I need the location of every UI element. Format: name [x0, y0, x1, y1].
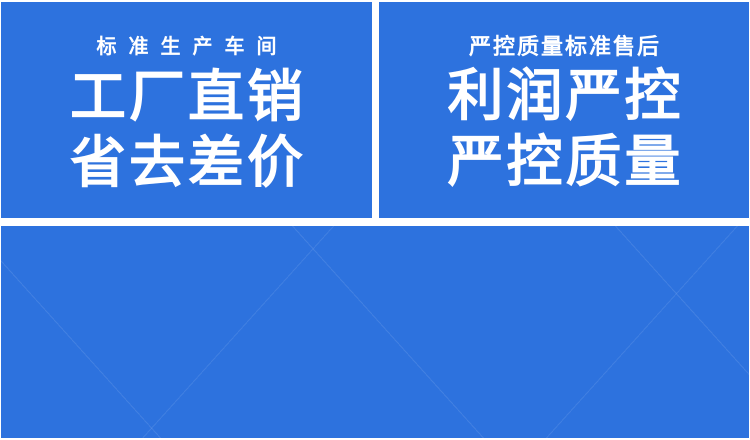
eyebrow-standard-workshop: 标准生产车间 [1, 30, 372, 59]
promo-banner: 标准生产车间 工厂直销 省去差价 严控质量标准售后 利润严控 严控质量 细节与优… [0, 0, 750, 440]
eyebrow-quality-aftersales: 严控质量标准售后 [379, 29, 749, 61]
panel-quality-control-content: 严控质量标准售后 利润严控 严控质量 [379, 2, 749, 218]
panel-factory-direct: 标准生产车间 工厂直销 省去差价 [1, 2, 372, 218]
headline-factory-direct-line2: 省去差价 [1, 135, 372, 191]
panel-details-advantages: 细节与优势 不怕货比，就怕不识货 [1, 226, 749, 438]
panel-details-advantages-content: 细节与优势 不怕货比，就怕不识货 [1, 226, 749, 438]
headline-factory-direct-line1: 工厂直销 [1, 69, 372, 125]
panel-quality-control: 严控质量标准售后 利润严控 严控质量 [379, 2, 749, 218]
panel-factory-direct-content: 标准生产车间 工厂直销 省去差价 [1, 2, 372, 218]
headline-quality-control-line2: 严控质量 [379, 134, 749, 190]
headline-quality-control-line1: 利润严控 [379, 68, 749, 124]
